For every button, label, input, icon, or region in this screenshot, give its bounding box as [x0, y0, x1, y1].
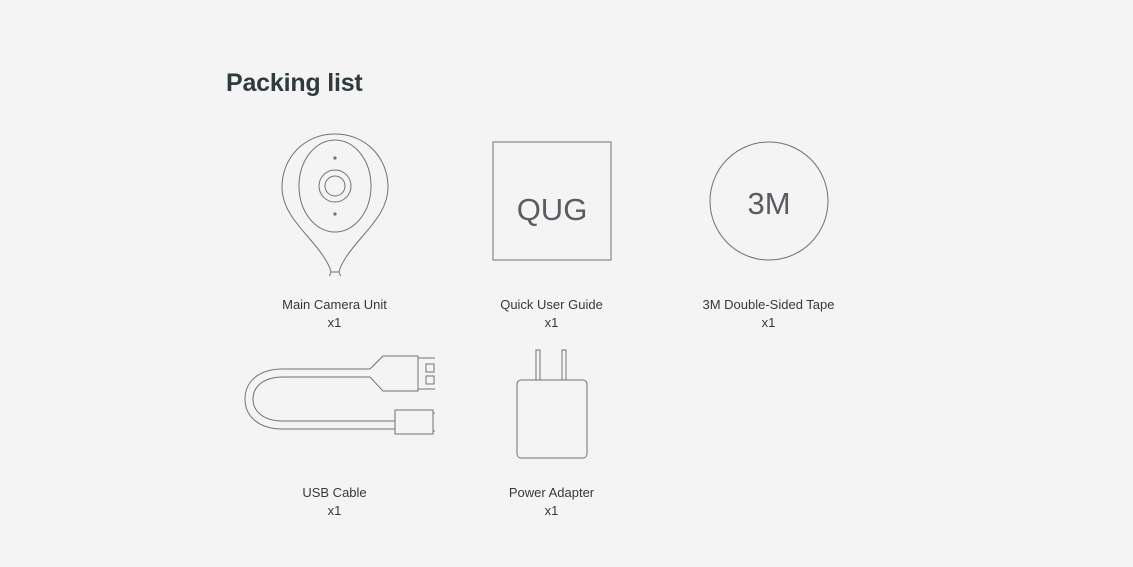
packing-item-usb-cable: USB Cable x1 — [226, 344, 443, 520]
packing-list-row: Main Camera Unit x1 QUG Quick User Guide… — [226, 126, 1106, 332]
adhesive-tape-circle-icon: 3M — [699, 126, 839, 276]
packing-list-row: USB Cable x1 Power Adapter — [226, 344, 1106, 520]
packing-item-caption: Main Camera Unit x1 — [282, 296, 387, 332]
packing-item-caption: USB Cable x1 — [302, 484, 366, 520]
packing-item-power-adapter: Power Adapter x1 — [443, 344, 660, 520]
packing-item-quantity: x1 — [282, 314, 387, 332]
packing-item-quantity: x1 — [509, 502, 594, 520]
packing-item-quantity: x1 — [302, 502, 366, 520]
packing-item-caption: 3M Double-Sided Tape x1 — [702, 296, 834, 332]
power-adapter-icon — [482, 344, 622, 464]
packing-item-quick-user-guide: QUG Quick User Guide x1 — [443, 126, 660, 332]
packing-item-name: Power Adapter — [509, 485, 594, 500]
packing-list-page: Packing list — [0, 0, 1133, 567]
packing-item-caption: Quick User Guide x1 — [500, 296, 603, 332]
page-title: Packing list — [226, 66, 363, 100]
tape-art-label: 3M — [747, 186, 790, 221]
quick-user-guide-icon: QUG — [482, 126, 622, 276]
packing-item-caption: Power Adapter x1 — [509, 484, 594, 520]
security-camera-icon — [265, 126, 405, 276]
packing-item-name: Main Camera Unit — [282, 297, 387, 312]
packing-item-3m-double-sided-tape: 3M 3M Double-Sided Tape x1 — [660, 126, 877, 332]
usb-cable-icon — [235, 344, 435, 464]
packing-item-name: 3M Double-Sided Tape — [702, 297, 834, 312]
packing-item-main-camera-unit: Main Camera Unit x1 — [226, 126, 443, 332]
quick-user-guide-art-label: QUG — [516, 192, 587, 227]
packing-item-quantity: x1 — [702, 314, 834, 332]
packing-item-quantity: x1 — [500, 314, 603, 332]
packing-list-grid: Main Camera Unit x1 QUG Quick User Guide… — [226, 126, 1106, 520]
packing-item-name: Quick User Guide — [500, 297, 603, 312]
packing-item-name: USB Cable — [302, 485, 366, 500]
